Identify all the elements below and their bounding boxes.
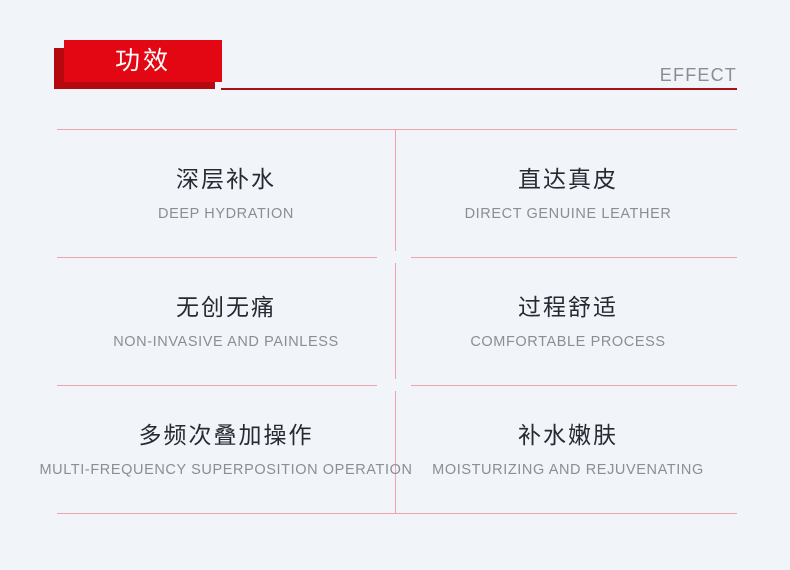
- effect-title: 补水嫩肤: [518, 420, 618, 452]
- section-title-en: EFFECT: [660, 64, 737, 86]
- grid-vline-seg2: [395, 263, 396, 379]
- header-underline-rule: [221, 88, 737, 90]
- effect-title: 过程舒适: [518, 292, 618, 324]
- section-header: 功效 EFFECT: [0, 0, 790, 115]
- effect-grid: 深层补水 DEEP HYDRATION 直达真皮 DIRECT GENUINE …: [57, 129, 737, 514]
- grid-vline-seg1: [395, 129, 396, 251]
- effect-subtitle: DEEP HYDRATION: [158, 205, 294, 223]
- effect-cell-deep-hydration[interactable]: 深层补水 DEEP HYDRATION: [57, 129, 395, 257]
- effect-title: 深层补水: [176, 164, 276, 196]
- grid-vline-seg3: [395, 391, 396, 514]
- effect-title: 无创无痛: [176, 292, 276, 324]
- effect-subtitle: MOISTURIZING AND REJUVENATING: [432, 461, 704, 479]
- effect-subtitle: MULTI-FREQUENCY SUPERPOSITION OPERATION: [39, 461, 412, 479]
- effect-title: 多频次叠加操作: [139, 420, 314, 452]
- effect-cell-multi-frequency-superposition-operation[interactable]: 多频次叠加操作 MULTI-FREQUENCY SUPERPOSITION OP…: [57, 385, 395, 513]
- section-title-badge: 功效: [54, 40, 244, 92]
- effect-section-page: 功效 EFFECT 深层补水 DEEP HYDRATION 直达真皮 DIREC…: [0, 0, 790, 570]
- effect-cell-non-invasive-and-painless[interactable]: 无创无痛 NON-INVASIVE AND PAINLESS: [57, 257, 395, 385]
- section-title-cn: 功效: [64, 40, 222, 82]
- effect-subtitle: NON-INVASIVE AND PAINLESS: [113, 333, 339, 351]
- effect-subtitle: COMFORTABLE PROCESS: [470, 333, 665, 351]
- effect-cell-direct-genuine-leather[interactable]: 直达真皮 DIRECT GENUINE LEATHER: [399, 129, 737, 257]
- grid-hline-bottom: [57, 513, 737, 514]
- effect-title: 直达真皮: [518, 164, 618, 196]
- effect-cell-comfortable-process[interactable]: 过程舒适 COMFORTABLE PROCESS: [399, 257, 737, 385]
- effect-cell-moisturizing-and-rejuvenating[interactable]: 补水嫩肤 MOISTURIZING AND REJUVENATING: [399, 385, 737, 513]
- effect-subtitle: DIRECT GENUINE LEATHER: [465, 205, 672, 223]
